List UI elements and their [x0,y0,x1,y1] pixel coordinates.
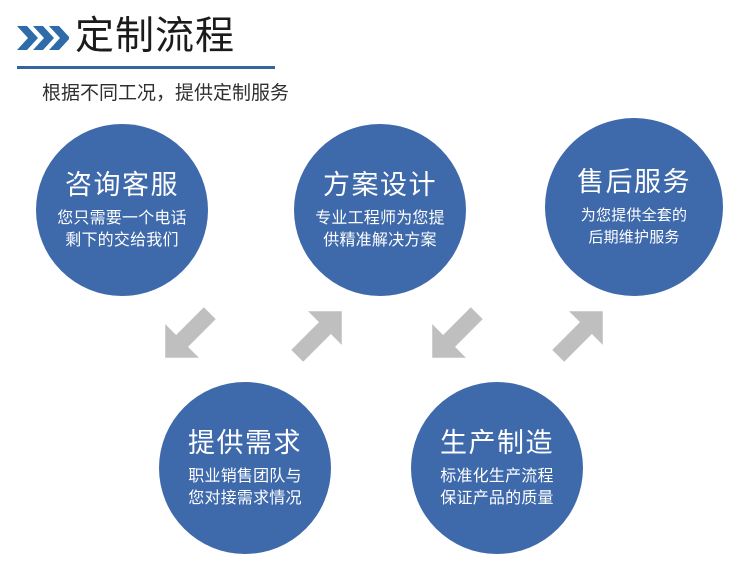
flow-node-title: 咨询客服 [65,169,179,203]
arrow-down-right-icon [153,300,223,370]
page-subtitle: 根据不同工况，提供定制服务 [42,80,289,106]
title-underline [17,66,275,69]
header: 定制流程 [17,10,317,72]
flow-node-provide-requirements[interactable]: 提供需求 职业销售团队与 您对接需求情况 [159,382,331,554]
arrow-up-right-icon [284,299,354,369]
flow-node-description: 专业工程师为您提 供精准解决方案 [315,207,445,251]
flow-node-after-sales-service[interactable]: 售后服务 为您提供全套的 后期维护服务 [545,118,723,296]
flow-node-description-line1: 标准化生产流程 [440,465,553,487]
arrow-up-right-icon [545,299,615,369]
flow-node-production-manufacturing[interactable]: 生产制造 标准化生产流程 保证产品的质量 [411,382,583,554]
flow-node-description-line2: 保证产品的质量 [440,487,553,509]
flow-node-title: 生产制造 [440,427,554,461]
flow-node-plan-design[interactable]: 方案设计 专业工程师为您提 供精准解决方案 [294,124,466,296]
flow-node-consult-service[interactable]: 咨询客服 您只需要一个电话 剩下的交给我们 [36,124,208,296]
flow-node-description-line1: 职业销售团队与 [188,465,301,487]
flow-node-description-line1: 专业工程师为您提 [315,207,445,229]
flow-node-description-line2: 剩下的交给我们 [57,229,187,251]
flow-node-description-line2: 供精准解决方案 [315,229,445,251]
flow-node-description-line2: 您对接需求情况 [188,487,301,509]
flow-node-description-line1: 为您提供全套的 [581,204,687,226]
page-title: 定制流程 [75,14,235,60]
flow-node-title: 售后服务 [577,166,691,200]
flow-node-description: 职业销售团队与 您对接需求情况 [188,465,301,509]
flow-node-description: 为您提供全套的 后期维护服务 [581,204,687,248]
arrow-down-right-icon [420,300,490,370]
flow-node-title: 提供需求 [188,427,302,461]
flow-node-description-line1: 您只需要一个电话 [57,207,187,229]
flow-node-title: 方案设计 [323,169,437,203]
customization-process-infographic: 定制流程 根据不同工况，提供定制服务 咨询客服 您只需要一个电话 剩下的交给我们… [0,0,750,576]
flow-node-description: 您只需要一个电话 剩下的交给我们 [57,207,187,251]
triple-chevron-right-icon [17,24,69,52]
flow-node-description-line2: 后期维护服务 [581,226,687,248]
flow-node-description: 标准化生产流程 保证产品的质量 [440,465,553,509]
